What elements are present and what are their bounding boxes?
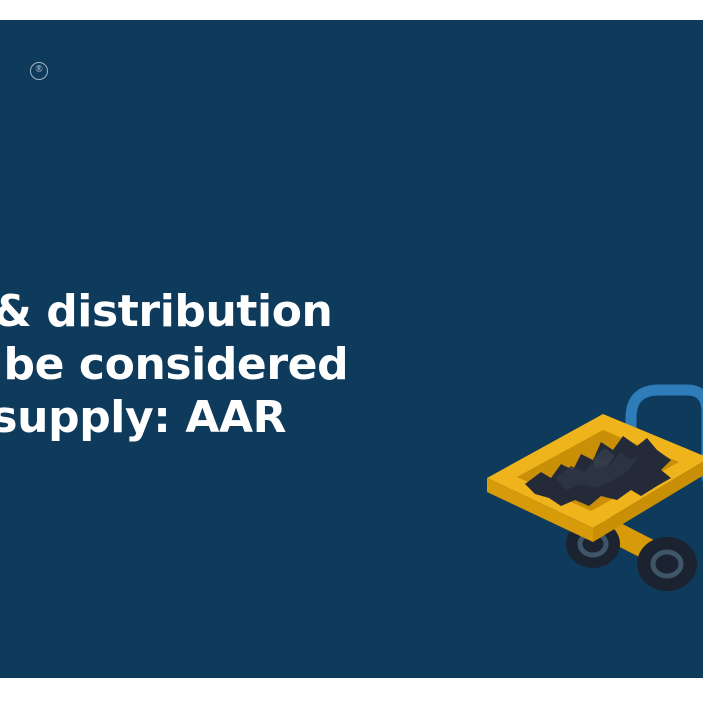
headline-line-1: ndling & distribution [0,285,703,338]
coal-wheelbarrow-illustration [481,366,703,616]
cart-wheel-front [637,537,697,591]
poster-canvas: N ® DIA ndling & distribution s can’t be… [0,0,703,703]
navy-panel: N ® DIA ndling & distribution s can’t be… [0,20,703,678]
top-white-band [0,0,703,20]
brand-logo[interactable]: N ® DIA [0,46,86,136]
bottom-white-band [0,678,703,703]
registered-trademark-icon: ® [30,62,48,80]
